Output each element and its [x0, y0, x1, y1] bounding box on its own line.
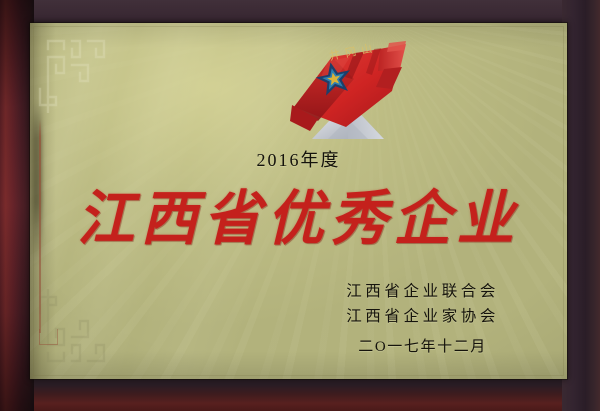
jinggangshan-monument-emblem-icon: 井 冈 山	[288, 35, 418, 147]
frame-bottom-rail	[0, 375, 600, 411]
certificate-panel: 井 冈 山 2016年度 江西省优秀企业 江西省企业联合会 江西省企业家协会 二…	[30, 23, 567, 379]
frame-left-shading	[0, 0, 34, 411]
issuer-block: 江西省企业联合会 江西省企业家协会 二O一七年十二月	[346, 279, 499, 356]
frame-top-rail	[0, 0, 600, 24]
award-plaque: 井 冈 山 2016年度 江西省优秀企业 江西省企业联合会 江西省企业家协会 二…	[0, 0, 600, 411]
issuer-organization-1: 江西省企业联合会	[346, 279, 499, 304]
svg-text:山: 山	[359, 42, 372, 57]
issue-date: 二O一七年十二月	[346, 335, 499, 356]
award-title: 江西省优秀企业	[30, 189, 567, 248]
certificate-content: 井 冈 山 2016年度 江西省优秀企业 江西省企业联合会 江西省企业家协会 二…	[30, 23, 567, 379]
frame-right-stile	[562, 0, 600, 411]
svg-text:冈: 冈	[343, 45, 356, 60]
svg-text:井: 井	[327, 47, 341, 63]
issuer-organization-2: 江西省企业家协会	[346, 304, 499, 329]
award-year: 2016年度	[30, 146, 567, 172]
